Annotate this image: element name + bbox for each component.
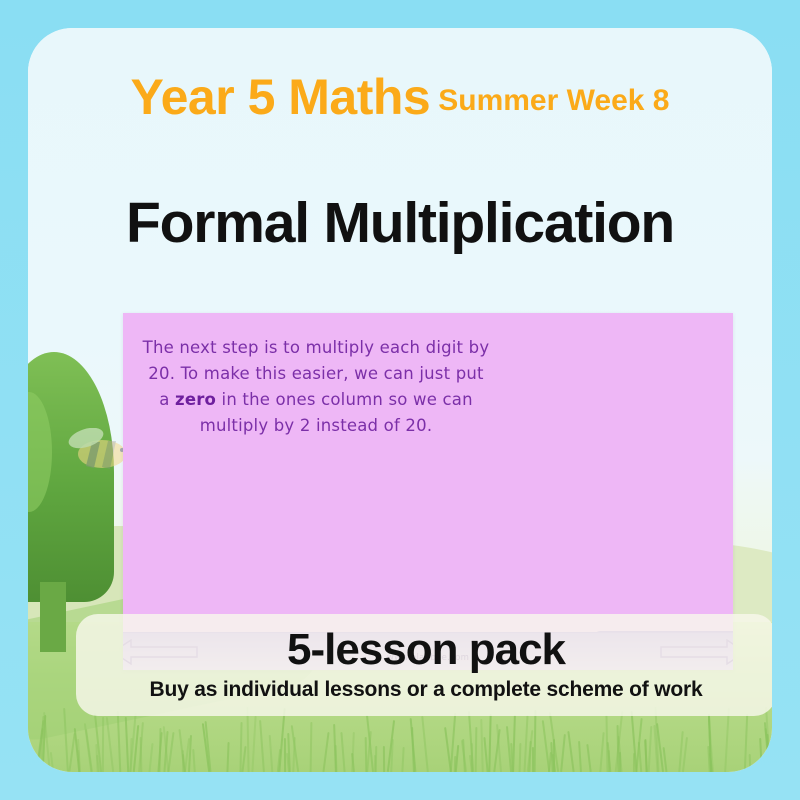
grass-blade [759,738,763,772]
grass-blade [631,711,638,772]
grass-blade [309,722,312,772]
grass-blade [402,747,405,772]
grass-blade [480,719,483,772]
grass-blade [341,732,346,772]
grass-blade [599,732,604,772]
grass-blade [578,741,582,772]
grass-blade [102,717,104,772]
grass-blade [567,731,574,772]
tree-trunk [40,582,66,652]
grass-blade [475,727,478,772]
slide-explanation-bold: zero [175,390,216,409]
grass-blade [483,737,488,772]
grass-blade [247,707,250,772]
grass-blade [322,732,329,772]
product-poster: Year 5 MathsSummer Week 8 Formal Multipl… [0,0,800,800]
grass-blade [106,717,114,772]
grass-blade [68,733,75,772]
header-subject: Year 5 Maths [131,69,431,125]
grass-blade [139,737,142,772]
grass-blade [455,745,459,772]
grass-blade [269,735,274,772]
grass-blade [149,743,154,772]
grass-blade [534,710,537,772]
grass-blade [242,746,247,772]
grass-blade [519,743,522,772]
grass-blade [647,726,652,772]
grass-blade [227,742,230,772]
grass-blade [462,739,466,772]
grass-blade [560,734,566,772]
grass-blade [489,714,492,772]
header-term: Summer Week 8 [438,84,669,117]
grass-blade [765,707,771,772]
grass-blade [383,746,385,772]
promo-banner: 5-lesson pack Buy as individual lessons … [76,614,772,716]
grass-blade [375,745,378,772]
banner-headline: 5-lesson pack [76,624,772,676]
grass-blade [512,715,516,772]
slide-explanation: The next step is to multiply each digit … [141,335,491,439]
grass-blade [749,754,752,772]
page-title: Formal Multiplication [28,190,772,256]
banner-subline: Buy as individual lessons or a complete … [76,678,772,702]
tree-decoration [28,352,114,652]
grass-blade [284,738,286,772]
grass-blade [638,742,642,772]
grass-blade [743,714,747,772]
grass-blade [421,717,429,772]
grass-blade [77,739,81,772]
slide-explanation-part2: in the ones column so we can multiply by… [200,390,473,435]
grass-blade [83,724,91,772]
grass-blade [586,744,591,772]
grass-blade [125,717,129,772]
header: Year 5 MathsSummer Week 8 [28,68,772,126]
grass-blade [167,732,174,772]
grass-blade [193,749,196,772]
grass-blade [724,708,730,772]
grass-blade [335,745,338,772]
grass-blade [63,708,69,772]
grass-blade [252,716,257,772]
grass-blade [471,743,473,772]
grass-blade [259,720,265,772]
tree-foliage [28,352,114,602]
poster-card: Year 5 MathsSummer Week 8 Formal Multipl… [28,28,772,772]
grass-blade [682,737,688,772]
grass-blade [117,711,122,772]
